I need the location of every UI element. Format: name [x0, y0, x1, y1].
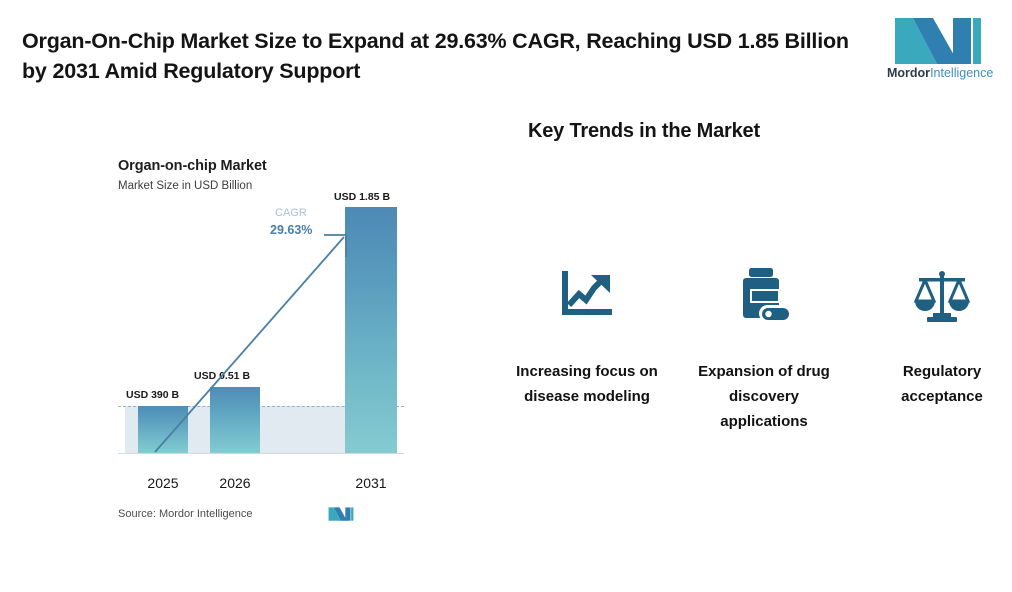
chart-subtitle: Market Size in USD Billion: [118, 180, 252, 192]
key-trends-row: Increasing focus on disease modeling Exp…: [500, 265, 1012, 475]
bar-value-label-2031: USD 1.85 B: [334, 191, 390, 203]
key-trends-heading: Key Trends in the Market: [528, 120, 948, 143]
chart-x-axis-labels: 2025 2026 2031: [118, 475, 404, 501]
page-title: Organ-On-Chip Market Size to Expand at 2…: [22, 26, 867, 86]
infographic-page: Organ-On-Chip Market Size to Expand at 2…: [0, 0, 1012, 592]
trend-card-regulatory-acceptance: Regulatory acceptance: [862, 265, 1012, 409]
market-size-chart: Organ-on-chip Market Market Size in USD …: [104, 150, 404, 540]
brand-wordmark: MordorIntelligence: [887, 66, 989, 80]
x-axis-label-2025: 2025: [136, 475, 190, 491]
medicine-bottle-pill-icon: [684, 265, 844, 327]
trend-label-1: Expansion of drug discovery applications: [684, 359, 844, 434]
chart-plot-area: USD 390 B USD 0.51 B USD 1.85 B CAGR 29.…: [118, 205, 404, 475]
line-chart-growth-icon: [507, 265, 667, 327]
x-axis-label-2031: 2031: [344, 475, 398, 491]
trend-card-disease-modeling: Increasing focus on disease modeling: [507, 265, 667, 409]
balance-scales-icon: [862, 265, 1012, 327]
growth-arrow-icon: [118, 205, 404, 475]
brand-name-light: Intelligence: [930, 66, 993, 80]
brand-name-bold: Mordor: [887, 66, 930, 80]
mordor-m-logo-icon: [328, 505, 354, 522]
mordor-m-logo-icon: [893, 14, 983, 64]
trend-label-0: Increasing focus on disease modeling: [507, 359, 667, 409]
chart-title: Organ-on-chip Market: [118, 158, 267, 174]
chart-source-text: Source: Mordor Intelligence: [118, 508, 253, 520]
trend-label-2: Regulatory acceptance: [862, 359, 1012, 409]
header: Organ-On-Chip Market Size to Expand at 2…: [0, 0, 1012, 100]
x-axis-label-2026: 2026: [208, 475, 262, 491]
brand-logo: MordorIntelligence: [887, 14, 989, 86]
trend-card-drug-discovery: Expansion of drug discovery applications: [684, 265, 844, 434]
